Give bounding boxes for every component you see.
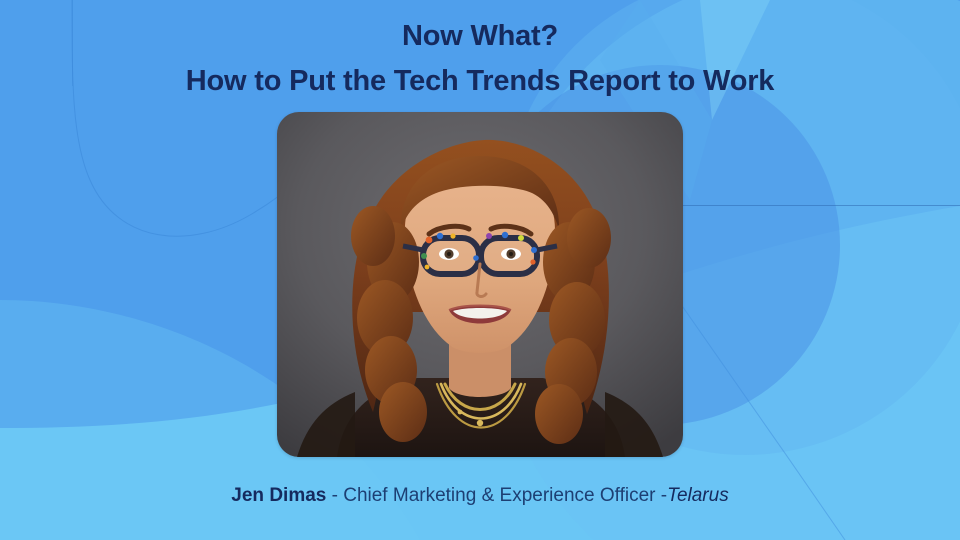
presentation-slide: Now What? How to Put the Tech Trends Rep… (0, 0, 960, 540)
title-line-1: Now What? (0, 18, 960, 54)
speaker-role: Chief Marketing & Experience Officer (343, 485, 661, 506)
title-line-2: How to Put the Tech Trends Report to Wor… (0, 63, 960, 99)
speaker-caption: Jen Dimas - Chief Marketing & Experience… (0, 483, 960, 509)
speaker-name: Jen Dimas (231, 485, 326, 506)
speaker-portrait-image (277, 112, 683, 457)
speaker-company: Telarus (667, 485, 729, 506)
speaker-portrait (277, 112, 683, 457)
slide-title: Now What? How to Put the Tech Trends Rep… (0, 18, 960, 100)
caption-separator: - (326, 485, 343, 506)
